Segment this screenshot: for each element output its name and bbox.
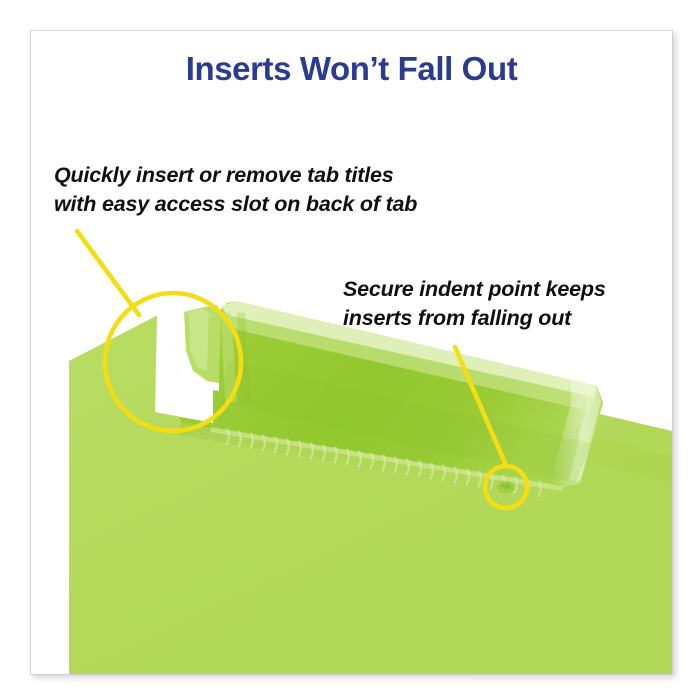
product-photograph — [31, 31, 672, 674]
callout-access-slot-line2: with easy access slot on back of tab — [54, 190, 417, 219]
callout-indent-point: Secure indent point keeps inserts from f… — [343, 275, 606, 332]
page-title: Inserts Won’t Fall Out — [31, 51, 672, 87]
product-illustration — [31, 31, 672, 674]
callout-indent-point-line1: Secure indent point keeps — [343, 275, 606, 304]
screenshot-stage: Inserts Won’t Fall Out Quickly insert or… — [0, 0, 700, 700]
leader-line-access-slot — [77, 231, 139, 315]
callout-indent-point-line2: inserts from falling out — [343, 304, 606, 333]
product-photo-card: Inserts Won’t Fall Out Quickly insert or… — [30, 30, 673, 675]
callout-access-slot-line1: Quickly insert or remove tab titles — [54, 161, 417, 190]
callout-access-slot: Quickly insert or remove tab titles with… — [54, 161, 417, 218]
secure-indent-point — [497, 481, 515, 493]
